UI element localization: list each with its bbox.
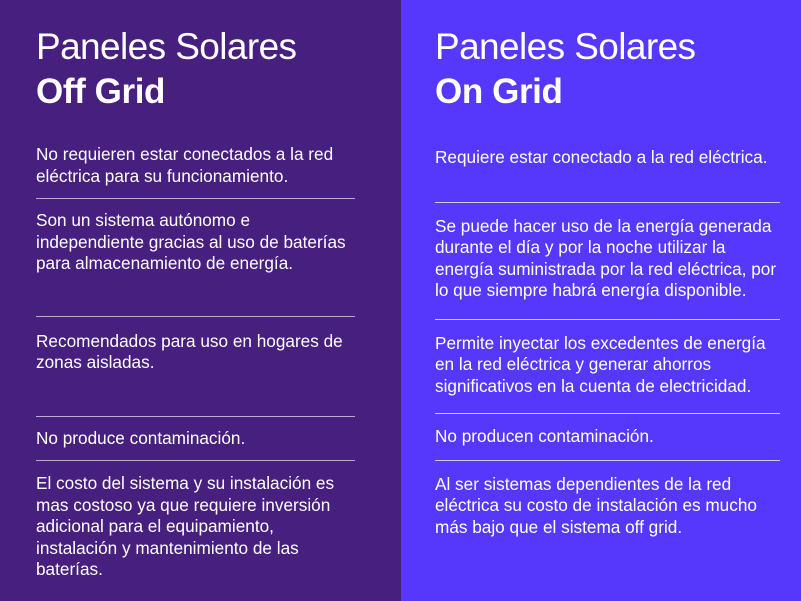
on-grid-item-1-text: Requiere estar conectado a la red eléctr… bbox=[435, 147, 780, 169]
list-item: Se puede hacer uso de la energía generad… bbox=[435, 216, 780, 302]
off-grid-divider-3 bbox=[36, 416, 355, 417]
list-item: El costo del sistema y su instalación es… bbox=[36, 473, 355, 581]
comparison-column-on-grid: Paneles Solares On Grid Requiere estar c… bbox=[401, 0, 801, 601]
off-grid-heading: Paneles Solares Off Grid bbox=[36, 0, 355, 109]
on-grid-item-4-text: No producen contaminación. bbox=[435, 426, 780, 448]
off-grid-item-3-text: Recomendados para uso en hogares de zona… bbox=[36, 331, 355, 374]
on-grid-divider-3 bbox=[435, 413, 780, 414]
off-grid-item-2-text: Son un sistema autónomo e independiente … bbox=[36, 210, 355, 275]
list-item: Al ser sistemas dependientes de la red e… bbox=[435, 474, 780, 539]
solar-panel-comparison-infographic: Paneles Solares Off Grid No requieren es… bbox=[0, 0, 801, 601]
comparison-column-off-grid: Paneles Solares Off Grid No requieren es… bbox=[0, 0, 401, 601]
list-item: Requiere estar conectado a la red eléctr… bbox=[435, 147, 780, 169]
on-grid-heading-line1: Paneles Solares bbox=[435, 28, 780, 65]
on-grid-feature-list: Requiere estar conectado a la red eléctr… bbox=[435, 147, 780, 538]
off-grid-feature-list: No requieren estar conectados a la red e… bbox=[36, 144, 355, 581]
list-item: Son un sistema autónomo e independiente … bbox=[36, 210, 355, 275]
off-grid-item-1-text: No requieren estar conectados a la red e… bbox=[36, 144, 355, 187]
on-grid-item-5-text: Al ser sistemas dependientes de la red e… bbox=[435, 474, 780, 539]
on-grid-heading: Paneles Solares On Grid bbox=[435, 0, 780, 109]
list-item: Permite inyectar los excedentes de energ… bbox=[435, 333, 780, 398]
off-grid-divider-4 bbox=[36, 460, 355, 461]
on-grid-divider-1 bbox=[435, 202, 780, 203]
list-item: No produce contaminación. bbox=[36, 428, 355, 450]
on-grid-divider-4 bbox=[435, 460, 780, 461]
off-grid-item-5-text: El costo del sistema y su instalación es… bbox=[36, 473, 355, 581]
on-grid-heading-line2: On Grid bbox=[435, 74, 780, 109]
on-grid-item-3-text: Permite inyectar los excedentes de energ… bbox=[435, 333, 780, 398]
off-grid-heading-line2: Off Grid bbox=[36, 74, 355, 109]
off-grid-item-4-text: No produce contaminación. bbox=[36, 428, 355, 450]
off-grid-heading-line1: Paneles Solares bbox=[36, 28, 355, 65]
list-item: Recomendados para uso en hogares de zona… bbox=[36, 331, 355, 374]
off-grid-divider-2 bbox=[36, 316, 355, 317]
off-grid-divider-1 bbox=[36, 198, 355, 199]
on-grid-item-2-text: Se puede hacer uso de la energía generad… bbox=[435, 216, 780, 302]
list-item: No producen contaminación. bbox=[435, 426, 780, 448]
list-item: No requieren estar conectados a la red e… bbox=[36, 144, 355, 187]
on-grid-divider-2 bbox=[435, 319, 780, 320]
